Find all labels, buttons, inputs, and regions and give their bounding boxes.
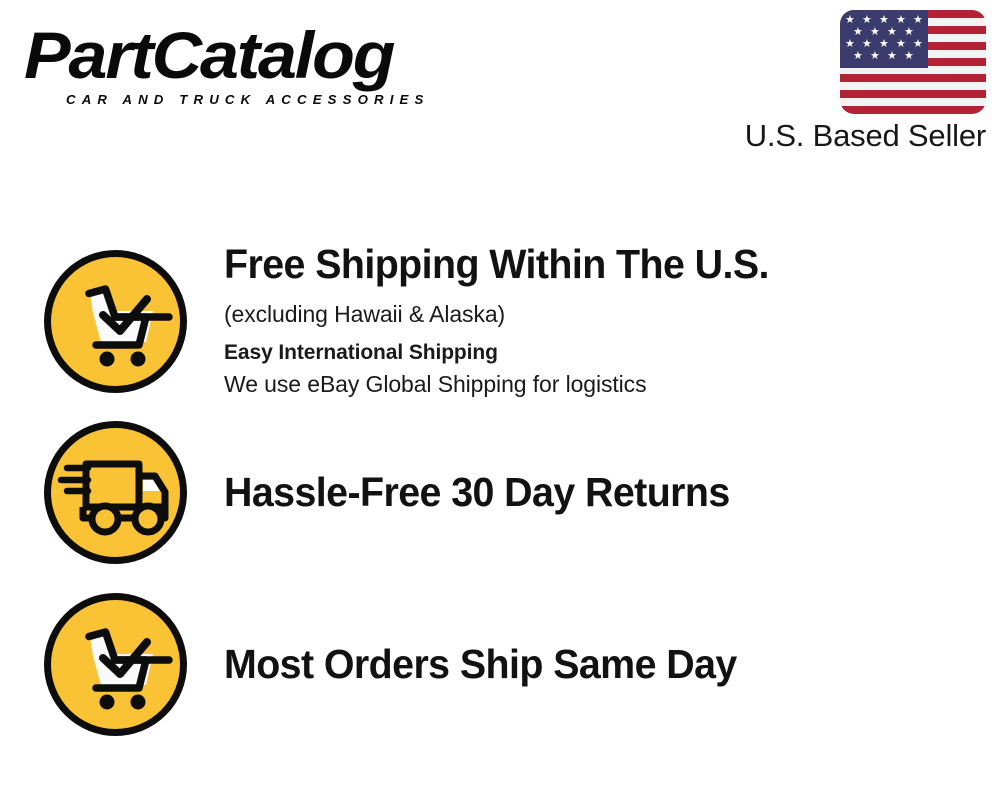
feature-title: Most Orders Ship Same Day [224,640,934,688]
feature-title: Hassle-Free 30 Day Returns [224,468,934,516]
part-catalog-logo[interactable]: PartCatalog CAR AND TRUCK ACCESSORIES [24,20,494,115]
flag-stripe [840,106,986,114]
flag-stripe [840,74,986,82]
shopping-cart-check-icon [43,249,188,394]
feature-subtitle: We use eBay Global Shipping for logistic… [224,368,964,400]
flag-star: ★ [853,27,863,38]
feature-subtitle: (excluding Hawaii & Alaska) [224,298,964,330]
flag-star: ★ [845,39,855,50]
us-flag-icon: ★ ★ ★ ★ ★ ★ ★ ★ ★ ★ ★ ★ ★ ★ ★ ★ ★ ★ [840,10,986,114]
flag-star: ★ [896,39,906,50]
flag-star: ★ [845,15,855,26]
flag-star: ★ [870,27,880,38]
flag-star: ★ [879,15,889,26]
flag-stripe [840,90,986,98]
flag-star: ★ [904,27,914,38]
feature-text: Free Shipping Within The U.S. (excluding… [224,240,964,400]
brand-tagline: CAR AND TRUCK ACCESSORIES [66,92,503,107]
feature-row: Free Shipping Within The U.S. (excluding… [0,240,1000,410]
feature-text: Most Orders Ship Same Day [224,640,964,688]
flag-star: ★ [887,51,897,62]
flag-star: ★ [913,15,923,26]
delivery-truck-icon [43,420,188,565]
feature-row: Most Orders Ship Same Day [0,584,1000,756]
feature-row: Hassle-Free 30 Day Returns [0,412,1000,584]
flag-star: ★ [853,51,863,62]
feature-subtitles: (excluding Hawaii & Alaska) Easy Interna… [224,298,964,400]
flag-star: ★ [896,15,906,26]
flag-star: ★ [887,27,897,38]
flag-star: ★ [862,39,872,50]
us-based-seller-label: U.S. Based Seller [600,118,986,154]
feature-subtitle: Easy International Shipping [224,338,964,368]
flag-star: ★ [913,39,923,50]
flag-canton: ★ ★ ★ ★ ★ ★ ★ ★ ★ ★ ★ ★ ★ ★ ★ ★ ★ ★ [840,10,928,68]
flag-star: ★ [862,15,872,26]
feature-text: Hassle-Free 30 Day Returns [224,468,964,516]
brand-wordmark: PartCatalog [24,20,522,90]
flag-star: ★ [870,51,880,62]
feature-title: Free Shipping Within The U.S. [224,240,934,288]
flag-star: ★ [904,51,914,62]
shopping-cart-check-icon [43,592,188,737]
flag-star: ★ [879,39,889,50]
